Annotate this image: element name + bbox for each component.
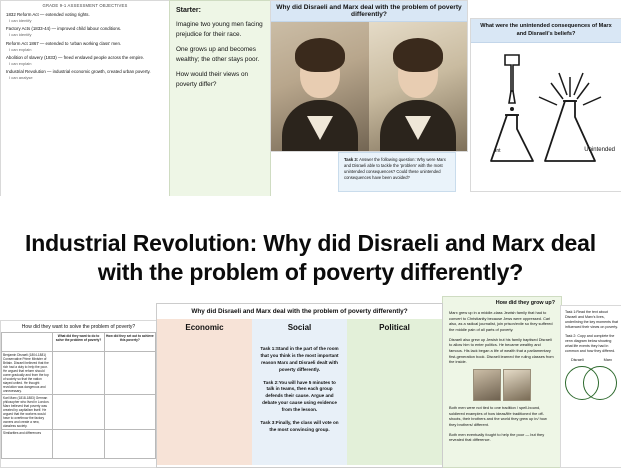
table-row: Similarities and differences <box>2 430 156 459</box>
hair-shape <box>393 38 443 72</box>
table-cell[interactable] <box>53 395 104 430</box>
flask-illustration: Int Unintended <box>471 43 621 173</box>
growup-title: How did they grow up? <box>443 297 561 306</box>
list-item: Reform Act 1867 — extended to 'urban wor… <box>6 41 164 52</box>
slide-portraits: Why did Disraeli and Marx deal with the … <box>270 0 468 152</box>
col-header <box>2 333 53 352</box>
table-cell: Benjamin Disraeli (1804-1881) Conservati… <box>2 352 53 395</box>
objective-sub: I can explain <box>6 47 164 52</box>
col-header: How did they set out to achieve this pov… <box>104 333 155 352</box>
slide-how-did-they-grow-up: How did they grow up? Marx grew up in a … <box>442 296 562 468</box>
objective-sub: I can identify <box>6 18 164 23</box>
hair-shape <box>295 38 345 72</box>
objectives-header: GRADE 9-1 ASSESSMENT OBJECTIVES <box>1 1 169 8</box>
category-tasks: Task 1:Stand in the part of the room tha… <box>252 332 347 434</box>
objective-sub: I can analyse <box>6 75 164 80</box>
worksheet-grid: What did they want to do to solve the pr… <box>1 332 156 459</box>
table-cell[interactable] <box>53 430 104 459</box>
category-heading: Political <box>347 323 442 332</box>
growup-paragraph: Disraeli also grew up Jewish but his fam… <box>449 337 555 365</box>
objective-text: Factory Acts (1833-44) — improved child … <box>6 26 121 31</box>
venn-circles <box>561 362 621 402</box>
slide-learning-objectives: GRADE 9-1 ASSESSMENT OBJECTIVES 1832 Ref… <box>0 0 170 198</box>
task3-body: Task 3: Answer the following question: W… <box>339 153 455 185</box>
task-text: Task 3:Finally, the class will vote on t… <box>259 420 340 434</box>
task3-text: Answer the following question: Why were … <box>344 157 446 180</box>
slide-economic-social-political: Why did Disraeli and Marx deal with the … <box>156 303 443 468</box>
list-item: Factory Acts (1833-44) — improved child … <box>6 26 164 37</box>
page-title: Industrial Revolution: Why did Disraeli … <box>0 229 621 288</box>
table-cell[interactable] <box>53 352 104 395</box>
table-header-row: What did they want to do to solve the pr… <box>2 333 156 352</box>
venn-diagram: Disraeli Marx <box>561 358 621 410</box>
list-item: 1832 Reform Act — extended voting rights… <box>6 12 164 23</box>
list-item: Abolition of slavery (1833) — freed ensl… <box>6 55 164 66</box>
task3-label: Task 3: <box>344 157 358 162</box>
portrait-pair <box>271 22 467 152</box>
slide-tasks-venn: Task 1:Read the text about Disraeli and … <box>560 305 621 468</box>
starter-paragraph: How would their views on poverty differ? <box>176 70 264 89</box>
starter-paragraph: One grows up and becomes wealthy; the ot… <box>176 45 264 64</box>
category-political[interactable]: Political <box>347 319 442 465</box>
table-cell[interactable] <box>104 430 155 459</box>
portrait-disraeli-thumb <box>503 369 531 401</box>
objective-text: Abolition of slavery (1833) — freed ensl… <box>6 55 144 60</box>
table-cell[interactable] <box>104 352 155 395</box>
worksheet-title: How did they want to solve the problem o… <box>1 321 156 332</box>
portrait-marx <box>271 22 369 152</box>
cell-text: Benjamin Disraeli (1804-1881) Conservati… <box>3 353 51 393</box>
task1-text: Task 1:Read the text about Disraeli and … <box>561 306 621 330</box>
task-text: Task 1:Stand in the part of the room tha… <box>259 346 340 374</box>
starter-title: Starter: <box>170 1 270 14</box>
starter-paragraph: Imagine two young men facing prejudice f… <box>176 20 264 39</box>
categories-title: Why did Disraeli and Marx deal with the … <box>157 304 442 319</box>
category-economic[interactable]: Economic <box>157 319 252 465</box>
slide-unintended-consequences: What were the unintended consequences of… <box>470 18 621 192</box>
objective-text: Reform Act 1867 — extended to 'urban wor… <box>6 41 121 46</box>
growup-paragraph: Both men eventually fought to help the p… <box>449 432 555 443</box>
venn-circle-right <box>583 366 617 400</box>
slide-worksheet-table: How did they want to solve the problem o… <box>0 320 157 468</box>
task2-text: Task 2: Copy and complete the venn diagr… <box>561 330 621 354</box>
table-cell: Similarities and differences <box>2 430 53 459</box>
categories-columns: Economic Social Task 1:Stand in the part… <box>157 319 442 465</box>
objective-text: Industrial Revolution — industrial econo… <box>6 69 151 74</box>
flask-label-right: Unintended <box>584 147 615 153</box>
slide-task3-question: Task 3: Answer the following question: W… <box>338 152 456 192</box>
objective-sub: I can identify <box>6 32 164 37</box>
slide-starter: Starter: Imagine two young men facing pr… <box>169 0 271 198</box>
objective-sub: I can explain <box>6 61 164 66</box>
col-header: What did they want to do to solve the pr… <box>53 333 104 352</box>
growup-paragraph: Marx grew up in a middle-class Jewish fa… <box>449 310 555 333</box>
objective-text: 1832 Reform Act — extended voting rights… <box>6 12 90 17</box>
cell-text: Karl Marx (1818-1883) German philosopher… <box>3 396 51 428</box>
flask-label-left: Int <box>495 148 501 154</box>
category-heading: Social <box>252 323 347 332</box>
category-social[interactable]: Social Task 1:Stand in the part of the r… <box>252 319 347 465</box>
table-row: Karl Marx (1818-1883) German philosopher… <box>2 395 156 430</box>
table-cell: Karl Marx (1818-1883) German philosopher… <box>2 395 53 430</box>
table-row: Benjamin Disraeli (1804-1881) Conservati… <box>2 352 156 395</box>
portrait-marx-thumb <box>473 369 501 401</box>
portraits-title: Why did Disraeli and Marx deal with the … <box>271 1 467 22</box>
cell-text: Similarities and differences <box>3 431 51 435</box>
portrait-disraeli <box>369 22 467 152</box>
growup-paragraph: Both men were not tied to one tradition … <box>449 405 555 428</box>
list-item: Industrial Revolution — industrial econo… <box>6 69 164 80</box>
objectives-list: 1832 Reform Act — extended voting rights… <box>1 8 169 81</box>
task-text: Task 2:You will have 5 minutes to talk i… <box>259 380 340 414</box>
table-cell[interactable] <box>104 395 155 430</box>
slide-collage: GRADE 9-1 ASSESSMENT OBJECTIVES 1832 Ref… <box>0 0 621 466</box>
unintended-title: What were the unintended consequences of… <box>471 19 621 43</box>
growup-portrait-pair <box>443 369 561 401</box>
category-heading: Economic <box>157 323 252 332</box>
